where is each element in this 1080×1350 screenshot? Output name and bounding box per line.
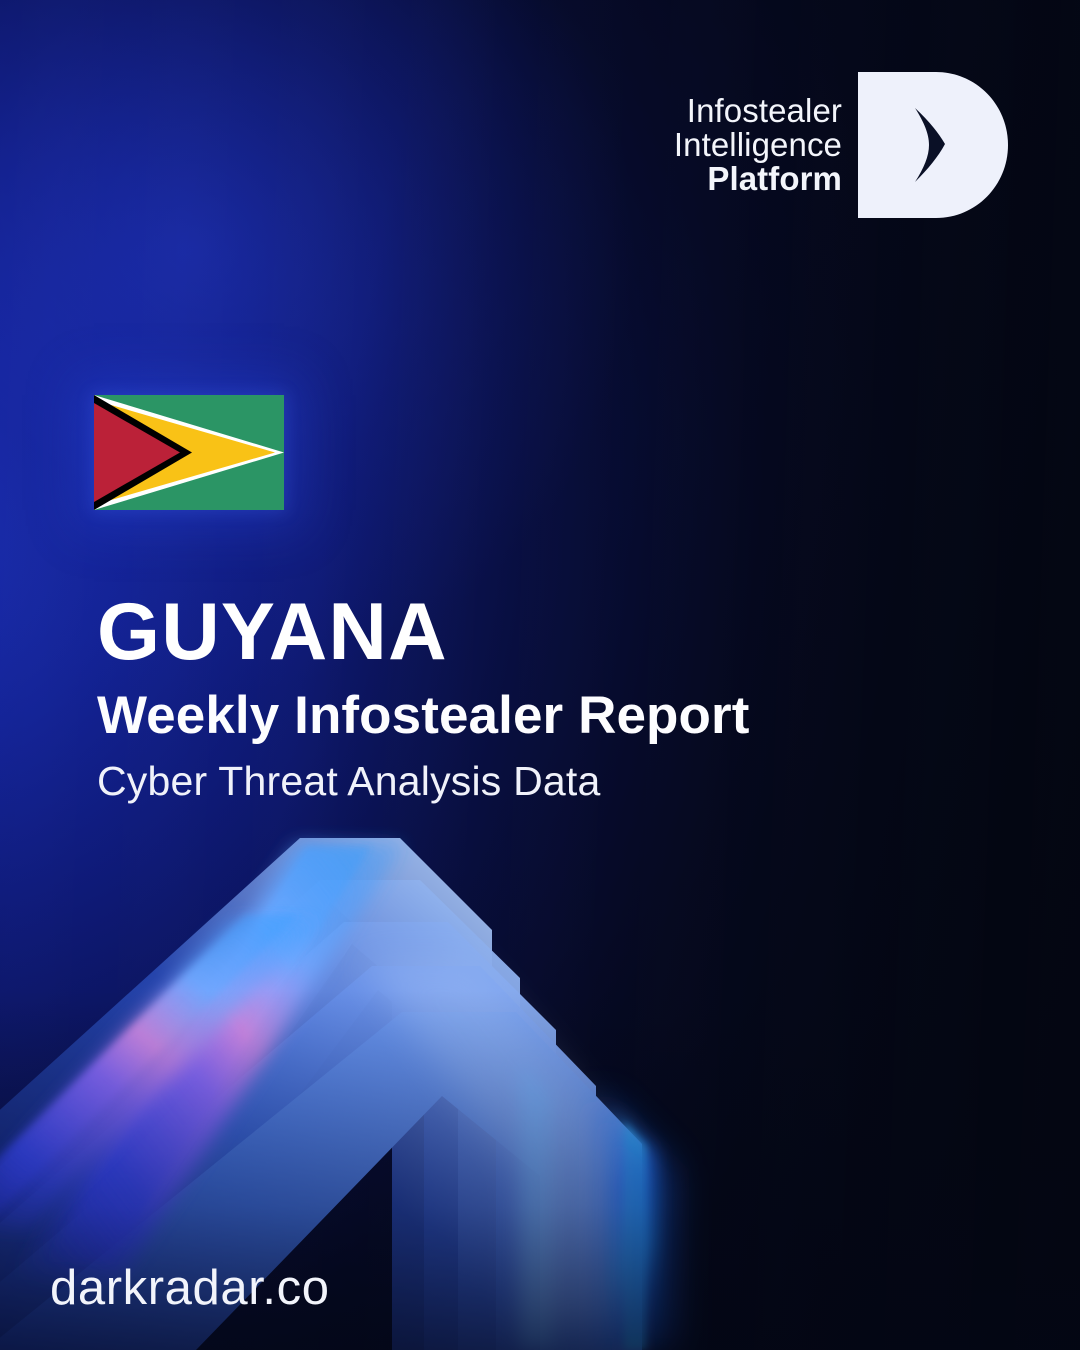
- brand-logo-line-platform: Platform: [707, 162, 842, 196]
- brand-logo-lockup[interactable]: Infostealer Intelligence Platform: [674, 72, 1008, 218]
- site-url[interactable]: darkradar.co: [50, 1260, 330, 1316]
- report-heading-block: GUYANA Weekly Infostealer Report Cyber T…: [97, 592, 749, 803]
- brand-logo-line-infostealer: Infostealer: [687, 94, 842, 128]
- guyana-flag-icon: [94, 395, 284, 510]
- brand-logo-line-intelligence: Intelligence: [674, 128, 842, 162]
- brand-logo-text: Infostealer Intelligence Platform: [674, 94, 842, 197]
- darkradar-d-arrow-logo-icon: [858, 72, 1008, 218]
- report-subtitle: Cyber Threat Analysis Data: [97, 759, 749, 803]
- country-title: GUYANA: [97, 592, 749, 673]
- report-poster: Infostealer Intelligence Platform GUYANA…: [0, 0, 1080, 1350]
- report-title: Weekly Infostealer Report: [97, 688, 749, 744]
